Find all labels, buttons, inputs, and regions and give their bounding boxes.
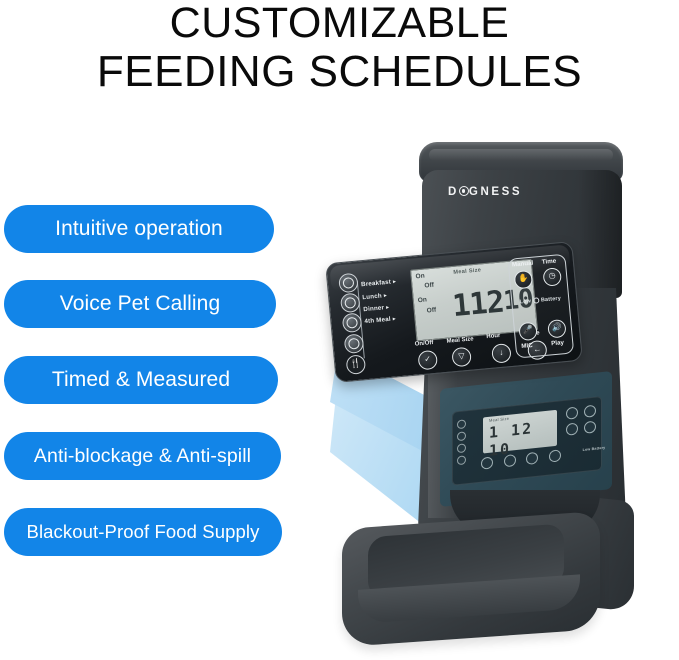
device-control-panel: Meal Size 1 12 10 Low Battery [452,396,602,486]
hour-button[interactable]: ↓ [491,343,512,364]
feature-pill-intuitive-operation: Intuitive operation [4,205,274,253]
device-lcd: Meal Size 1 12 10 [483,410,557,454]
brand-text: GNESS [469,186,522,198]
product-image: DGNESS Meal Size 1 12 10 [330,138,679,660]
device-button-minute[interactable] [549,449,561,462]
lcd-on-label-1: On [415,273,425,281]
device-meal-indicators [457,418,475,468]
panel-right-cluster: Manual Time ✋ ◷ LowBattery 🎤 🔊 MIC Play [507,254,574,359]
meal-indicator-icon-lunch [340,293,361,314]
low-battery-indicator: LowBattery [514,295,566,306]
lcd-meal-size-label: Meal Size [453,267,481,276]
brand-letter-d: D [448,186,459,198]
meal-label-lunch: Lunch [362,292,387,301]
device-meal-dot-fourth [457,455,466,465]
device-button-mic[interactable] [566,423,578,436]
device-control-recess: Meal Size 1 12 10 Low Battery [440,371,612,507]
low-battery-suffix: Battery [541,296,561,304]
meal-indicator-icon-dinner [342,312,363,333]
manual-button[interactable]: ✋ [514,270,534,290]
headline-line-1: CUSTOMIZABLE [0,2,679,46]
meal-indicator-icon-fourth [344,333,365,354]
device-button-onoff[interactable] [481,456,493,469]
control-panel-callout: 🍴 Breakfast Lunch Dinner 4th Meal On Off… [325,241,583,383]
device-meal-dot-breakfast [457,419,466,429]
feature-pill-voice-pet-calling: Voice Pet Calling [4,280,276,328]
marketing-image: CUSTOMIZABLE FEEDING SCHEDULES Intuitive… [0,0,679,660]
onoff-button[interactable]: ✓ [417,350,438,371]
device-button-meal-size[interactable] [504,454,516,467]
time-label: Time [542,258,557,266]
device-meal-dot-dinner [457,443,466,453]
lcd-off-label-2: Off [426,307,436,315]
device-button-manual[interactable] [566,407,578,420]
button-label-meal-size: Meal Size [446,336,473,344]
button-label-onoff: On/Off [415,340,434,348]
feeder-bowl-tray [342,511,600,647]
lcd-off-label-1: Off [424,282,434,290]
meal-label-fourth-meal: 4th Meal [364,315,396,325]
lcd-on-label-2: On [418,296,428,304]
play-button[interactable]: 🔊 [547,319,567,339]
brand-logo: DGNESS [448,186,522,198]
meal-label-dinner: Dinner [363,304,390,313]
device-button-hour[interactable] [526,452,538,465]
button-label-hour: Hour [486,333,500,340]
feature-pill-anti-blockage: Anti-blockage & Anti-spill [4,432,281,480]
meal-indicator-group: 🍴 Breakfast Lunch Dinner 4th Meal [338,268,417,372]
meal-label-breakfast: Breakfast [361,278,397,288]
meal-size-button[interactable]: ▽ [451,347,472,368]
battery-dot-icon [533,297,540,304]
mic-label: MIC [521,342,533,350]
low-battery-prefix: Low [519,298,531,305]
headline-line-2: FEEDING SCHEDULES [0,50,679,95]
time-button[interactable]: ◷ [542,267,562,287]
lcd-digit-hour: 12 [468,284,505,322]
feature-pill-blackout-proof: Blackout-Proof Food Supply [4,508,282,556]
meal-indicator-icon-breakfast [338,273,359,294]
mic-button[interactable]: 🎤 [518,322,538,342]
device-right-cluster[interactable]: Low Battery [566,405,596,440]
play-label: Play [551,339,564,347]
paw-o-icon [459,186,469,196]
device-button-time[interactable] [584,405,596,418]
page-title: CUSTOMIZABLE FEEDING SCHEDULES [0,2,679,95]
feature-pill-timed-measured: Timed & Measured [4,356,278,404]
device-button-play[interactable] [584,421,596,434]
manual-label: Manual [512,260,534,269]
device-meal-dot-lunch [457,431,466,441]
hopper-shading [578,170,622,298]
